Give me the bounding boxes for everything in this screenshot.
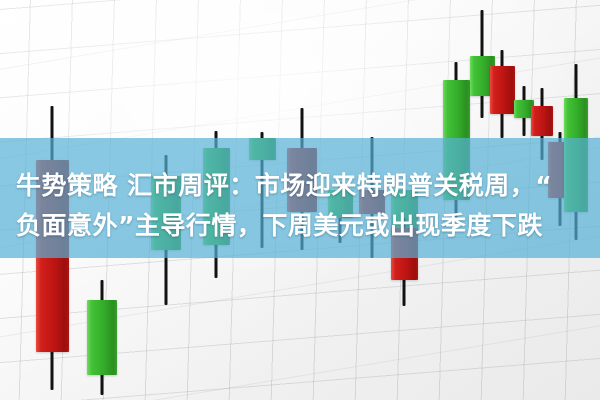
chart-image: 牛势策略 汇市周评：市场迎来特朗普关税周，“ 负面意外”主导行情，下周美元或出现… <box>0 0 600 400</box>
candlestick-up <box>87 280 117 395</box>
headline-line-2: 负面意外”主导行情，下周美元或出现季度下跌 <box>0 206 600 246</box>
candle-body <box>490 66 515 114</box>
headline-line-1: 牛势策略 汇市周评：市场迎来特朗普关税周，“ <box>0 166 600 206</box>
candle-body <box>87 300 117 375</box>
candlestick-down <box>490 50 515 138</box>
